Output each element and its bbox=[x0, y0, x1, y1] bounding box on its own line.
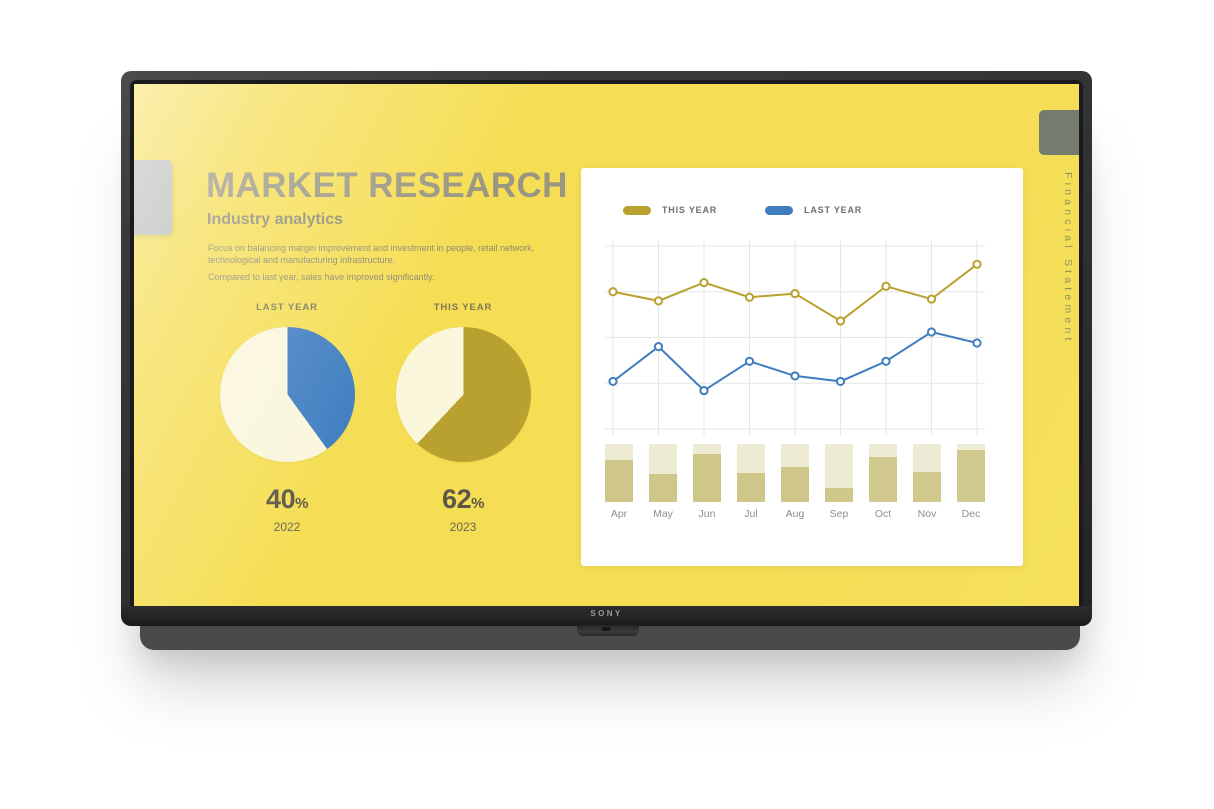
bar-chart-x-axis: AprMayJunJulAugSepOctNovDec bbox=[605, 508, 985, 520]
data-point-marker[interactable] bbox=[700, 387, 707, 394]
bar-segment-filled bbox=[737, 473, 765, 502]
legend-swatch-icon bbox=[765, 206, 793, 215]
legend-label: LAST YEAR bbox=[804, 205, 862, 215]
pie-percent-this-year: 62% bbox=[368, 484, 558, 515]
pie-percent-symbol: % bbox=[471, 495, 484, 512]
tv-ir-receiver-dot bbox=[601, 627, 611, 631]
data-point-marker[interactable] bbox=[609, 378, 616, 385]
data-point-marker[interactable] bbox=[791, 372, 798, 379]
legend-item-last-year[interactable]: LAST YEAR bbox=[765, 205, 862, 215]
data-point-marker[interactable] bbox=[837, 378, 844, 385]
x-axis-label: Sep bbox=[825, 508, 853, 520]
page-title: MARKET RESEARCH bbox=[206, 166, 568, 206]
bar-column[interactable] bbox=[869, 444, 897, 502]
bar-segment-remainder bbox=[693, 444, 721, 454]
data-point-marker[interactable] bbox=[928, 295, 935, 302]
decorative-left-tab bbox=[134, 160, 172, 235]
bar-segment-filled bbox=[781, 467, 809, 502]
data-point-marker[interactable] bbox=[700, 279, 707, 286]
x-axis-label: Aug bbox=[781, 508, 809, 520]
line-chart-svg bbox=[605, 240, 985, 435]
x-axis-label: Jul bbox=[737, 508, 765, 520]
data-point-marker[interactable] bbox=[928, 328, 935, 335]
x-axis-label: Oct bbox=[869, 508, 897, 520]
bar-segment-filled bbox=[957, 450, 985, 502]
tv-bottom-bezel: SONY bbox=[121, 606, 1092, 626]
bar-segment-remainder bbox=[869, 444, 897, 457]
bar-column[interactable] bbox=[693, 444, 721, 502]
bar-segment-filled bbox=[869, 457, 897, 502]
pie-percent-value: 40 bbox=[266, 484, 295, 514]
bar-segment-filled bbox=[825, 488, 853, 502]
data-point-marker[interactable] bbox=[882, 358, 889, 365]
data-point-marker[interactable] bbox=[655, 343, 662, 350]
x-axis-label: Nov bbox=[913, 508, 941, 520]
data-point-marker[interactable] bbox=[655, 297, 662, 304]
data-point-marker[interactable] bbox=[609, 288, 616, 295]
pie-caption-this-year: THIS YEAR bbox=[368, 302, 558, 313]
bar-column[interactable] bbox=[913, 444, 941, 502]
legend-item-this-year[interactable]: THIS YEAR bbox=[623, 205, 717, 215]
x-axis-label: Dec bbox=[957, 508, 985, 520]
pie-year-this-year: 2023 bbox=[368, 520, 558, 534]
data-point-marker[interactable] bbox=[837, 317, 844, 324]
bar-segment-remainder bbox=[825, 444, 853, 488]
bar-column[interactable] bbox=[605, 444, 633, 502]
data-point-marker[interactable] bbox=[791, 290, 798, 297]
screenshot-root: Financial Statement MARKET RESEARCH Indu… bbox=[0, 0, 1214, 809]
tv-display-device: Financial Statement MARKET RESEARCH Indu… bbox=[121, 71, 1092, 619]
data-point-marker[interactable] bbox=[746, 358, 753, 365]
pie-chart-this-year bbox=[396, 327, 531, 462]
bar-column[interactable] bbox=[825, 444, 853, 502]
sony-brand-logo: SONY bbox=[121, 609, 1092, 618]
decorative-right-tab bbox=[1039, 110, 1079, 155]
bar-segment-remainder bbox=[737, 444, 765, 473]
bar-segment-filled bbox=[605, 460, 633, 502]
pie-caption-last-year: LAST YEAR bbox=[192, 302, 382, 313]
bar-segment-filled bbox=[649, 474, 677, 502]
body-paragraph-2: Compared to last year, sales have improv… bbox=[208, 271, 553, 283]
chart-card: THIS YEARLAST YEAR AprMayJunJulAugSepOct… bbox=[581, 168, 1023, 566]
bar-segment-remainder bbox=[605, 444, 633, 460]
chart-legend: THIS YEARLAST YEAR bbox=[623, 205, 862, 215]
line-chart bbox=[605, 240, 985, 435]
data-point-marker[interactable] bbox=[973, 261, 980, 268]
side-label-financial-statement: Financial Statement bbox=[1062, 172, 1074, 345]
x-axis-label: Apr bbox=[605, 508, 633, 520]
pie-chart-last-year bbox=[220, 327, 355, 462]
pie-block-this-year: THIS YEAR 62% 2023 bbox=[368, 302, 558, 534]
pie-block-last-year: LAST YEAR 40% 2022 bbox=[192, 302, 382, 534]
pie-year-last-year: 2022 bbox=[192, 520, 382, 534]
bar-segment-filled bbox=[693, 454, 721, 502]
pie-percent-last-year: 40% bbox=[192, 484, 382, 515]
bar-segment-remainder bbox=[913, 444, 941, 472]
pie-percent-value: 62 bbox=[442, 484, 471, 514]
data-point-marker[interactable] bbox=[973, 339, 980, 346]
x-axis-label: May bbox=[649, 508, 677, 520]
bar-column[interactable] bbox=[649, 444, 677, 502]
bar-column[interactable] bbox=[737, 444, 765, 502]
x-axis-label: Jun bbox=[693, 508, 721, 520]
bar-segment-remainder bbox=[649, 444, 677, 474]
data-point-marker[interactable] bbox=[882, 283, 889, 290]
tv-screen: Financial Statement MARKET RESEARCH Indu… bbox=[134, 84, 1079, 609]
bar-column[interactable] bbox=[781, 444, 809, 502]
bar-chart bbox=[605, 444, 985, 502]
data-point-marker[interactable] bbox=[746, 294, 753, 301]
bar-segment-filled bbox=[913, 472, 941, 502]
legend-label: THIS YEAR bbox=[662, 205, 717, 215]
bar-segment-remainder bbox=[781, 444, 809, 467]
bar-column[interactable] bbox=[957, 444, 985, 502]
legend-swatch-icon bbox=[623, 206, 651, 215]
body-paragraph-1: Focus on balancing margin improvement an… bbox=[208, 242, 553, 266]
page-subtitle: Industry analytics bbox=[207, 211, 343, 229]
pie-percent-symbol: % bbox=[295, 495, 308, 512]
